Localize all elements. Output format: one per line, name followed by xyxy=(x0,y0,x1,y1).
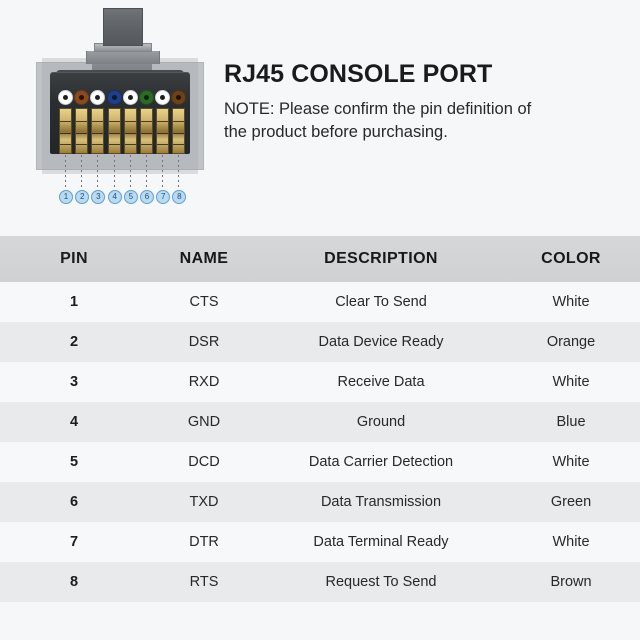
description-cell: Data Transmission xyxy=(260,494,502,510)
table-body: 1CTSClear To SendWhite2DSRData Device Re… xyxy=(0,282,640,602)
connector-latch-neck xyxy=(86,51,160,64)
color-cell: White xyxy=(502,294,640,310)
wire-color-dot-2 xyxy=(74,90,89,105)
pin-cell: 8 xyxy=(0,574,148,590)
gold-pin-contact-8 xyxy=(172,108,185,154)
pin-cell: 5 xyxy=(0,454,148,470)
column-header-description: DESCRIPTION xyxy=(260,250,502,268)
pin-number-marker-7: 7 xyxy=(156,190,170,204)
table-row: 2DSRData Device ReadyOrange xyxy=(0,322,640,362)
pin-cell: 4 xyxy=(0,414,148,430)
rj45-pinout-infographic: 12345678 RJ45 CONSOLE PORT NOTE: Please … xyxy=(0,0,640,640)
gold-pin-contact-group xyxy=(58,108,188,154)
pin-number-marker-6: 6 xyxy=(140,190,154,204)
wire-color-dot-6 xyxy=(139,90,154,105)
pin-leader-line-group xyxy=(58,155,188,189)
pin-cell: 2 xyxy=(0,334,148,350)
footer-spacer xyxy=(0,602,640,640)
name-cell: DTR xyxy=(148,534,260,550)
pin-number-marker-4: 4 xyxy=(108,190,122,204)
name-cell: GND xyxy=(148,414,260,430)
pin-leader-line-3 xyxy=(97,155,98,189)
pin-cell: 3 xyxy=(0,374,148,390)
gold-pin-contact-7 xyxy=(156,108,169,154)
gold-pin-contact-4 xyxy=(108,108,121,154)
color-cell: Green xyxy=(502,494,640,510)
gold-pin-contact-3 xyxy=(91,108,104,154)
gold-pin-contact-1 xyxy=(59,108,72,154)
pin-number-marker-group: 12345678 xyxy=(58,190,188,206)
gold-pin-contact-2 xyxy=(75,108,88,154)
gold-pin-contact-5 xyxy=(124,108,137,154)
connector-latch-tab xyxy=(103,8,143,46)
pin-cell: 1 xyxy=(0,294,148,310)
description-cell: Receive Data xyxy=(260,374,502,390)
name-cell: DCD xyxy=(148,454,260,470)
name-cell: DSR xyxy=(148,334,260,350)
pin-cell: 6 xyxy=(0,494,148,510)
description-cell: Data Carrier Detection xyxy=(260,454,502,470)
pin-number-marker-2: 2 xyxy=(75,190,89,204)
description-cell: Data Terminal Ready xyxy=(260,534,502,550)
wire-color-dot-3 xyxy=(90,90,105,105)
color-cell: Orange xyxy=(502,334,640,350)
pin-leader-line-4 xyxy=(114,155,115,189)
table-row: 5DCDData Carrier DetectionWhite xyxy=(0,442,640,482)
table-row: 6TXDData TransmissionGreen xyxy=(0,482,640,522)
page-title: RJ45 CONSOLE PORT xyxy=(224,58,624,90)
wire-color-dot-4 xyxy=(107,90,122,105)
wire-color-dot-8 xyxy=(171,90,186,105)
pinout-table: PIN NAME DESCRIPTION COLOR 1CTSClear To … xyxy=(0,236,640,602)
column-header-color: COLOR xyxy=(502,250,640,268)
pin-leader-line-7 xyxy=(162,155,163,189)
table-row: 3RXDReceive DataWhite xyxy=(0,362,640,402)
pin-cell: 7 xyxy=(0,534,148,550)
rj45-connector-illustration: 12345678 xyxy=(18,0,208,220)
name-cell: RTS xyxy=(148,574,260,590)
column-header-pin: PIN xyxy=(0,250,148,268)
pin-leader-line-5 xyxy=(130,155,131,189)
heading-block: RJ45 CONSOLE PORT NOTE: Please confirm t… xyxy=(224,58,624,144)
color-cell: White xyxy=(502,534,640,550)
color-cell: White xyxy=(502,454,640,470)
table-row: 1CTSClear To SendWhite xyxy=(0,282,640,322)
purchase-note: NOTE: Please confirm the pin definition … xyxy=(224,98,554,144)
name-cell: RXD xyxy=(148,374,260,390)
table-row: 8RTSRequest To SendBrown xyxy=(0,562,640,602)
table-row: 4GNDGroundBlue xyxy=(0,402,640,442)
description-cell: Ground xyxy=(260,414,502,430)
column-header-name: NAME xyxy=(148,250,260,268)
pin-leader-line-6 xyxy=(146,155,147,189)
pin-leader-line-8 xyxy=(178,155,179,189)
pin-number-marker-8: 8 xyxy=(172,190,186,204)
description-cell: Request To Send xyxy=(260,574,502,590)
name-cell: TXD xyxy=(148,494,260,510)
pin-leader-line-1 xyxy=(65,155,66,189)
name-cell: CTS xyxy=(148,294,260,310)
color-cell: White xyxy=(502,374,640,390)
wire-color-dot-group xyxy=(58,90,186,110)
wire-color-dot-1 xyxy=(58,90,73,105)
color-cell: Blue xyxy=(502,414,640,430)
pin-number-marker-5: 5 xyxy=(124,190,138,204)
pin-number-marker-1: 1 xyxy=(59,190,73,204)
table-header-row: PIN NAME DESCRIPTION COLOR xyxy=(0,236,640,282)
hero-section: 12345678 RJ45 CONSOLE PORT NOTE: Please … xyxy=(0,0,640,236)
wire-color-dot-5 xyxy=(123,90,138,105)
description-cell: Data Device Ready xyxy=(260,334,502,350)
color-cell: Brown xyxy=(502,574,640,590)
wire-color-dot-7 xyxy=(155,90,170,105)
pin-leader-line-2 xyxy=(81,155,82,189)
gold-pin-contact-6 xyxy=(140,108,153,154)
description-cell: Clear To Send xyxy=(260,294,502,310)
table-row: 7DTRData Terminal ReadyWhite xyxy=(0,522,640,562)
pin-number-marker-3: 3 xyxy=(91,190,105,204)
